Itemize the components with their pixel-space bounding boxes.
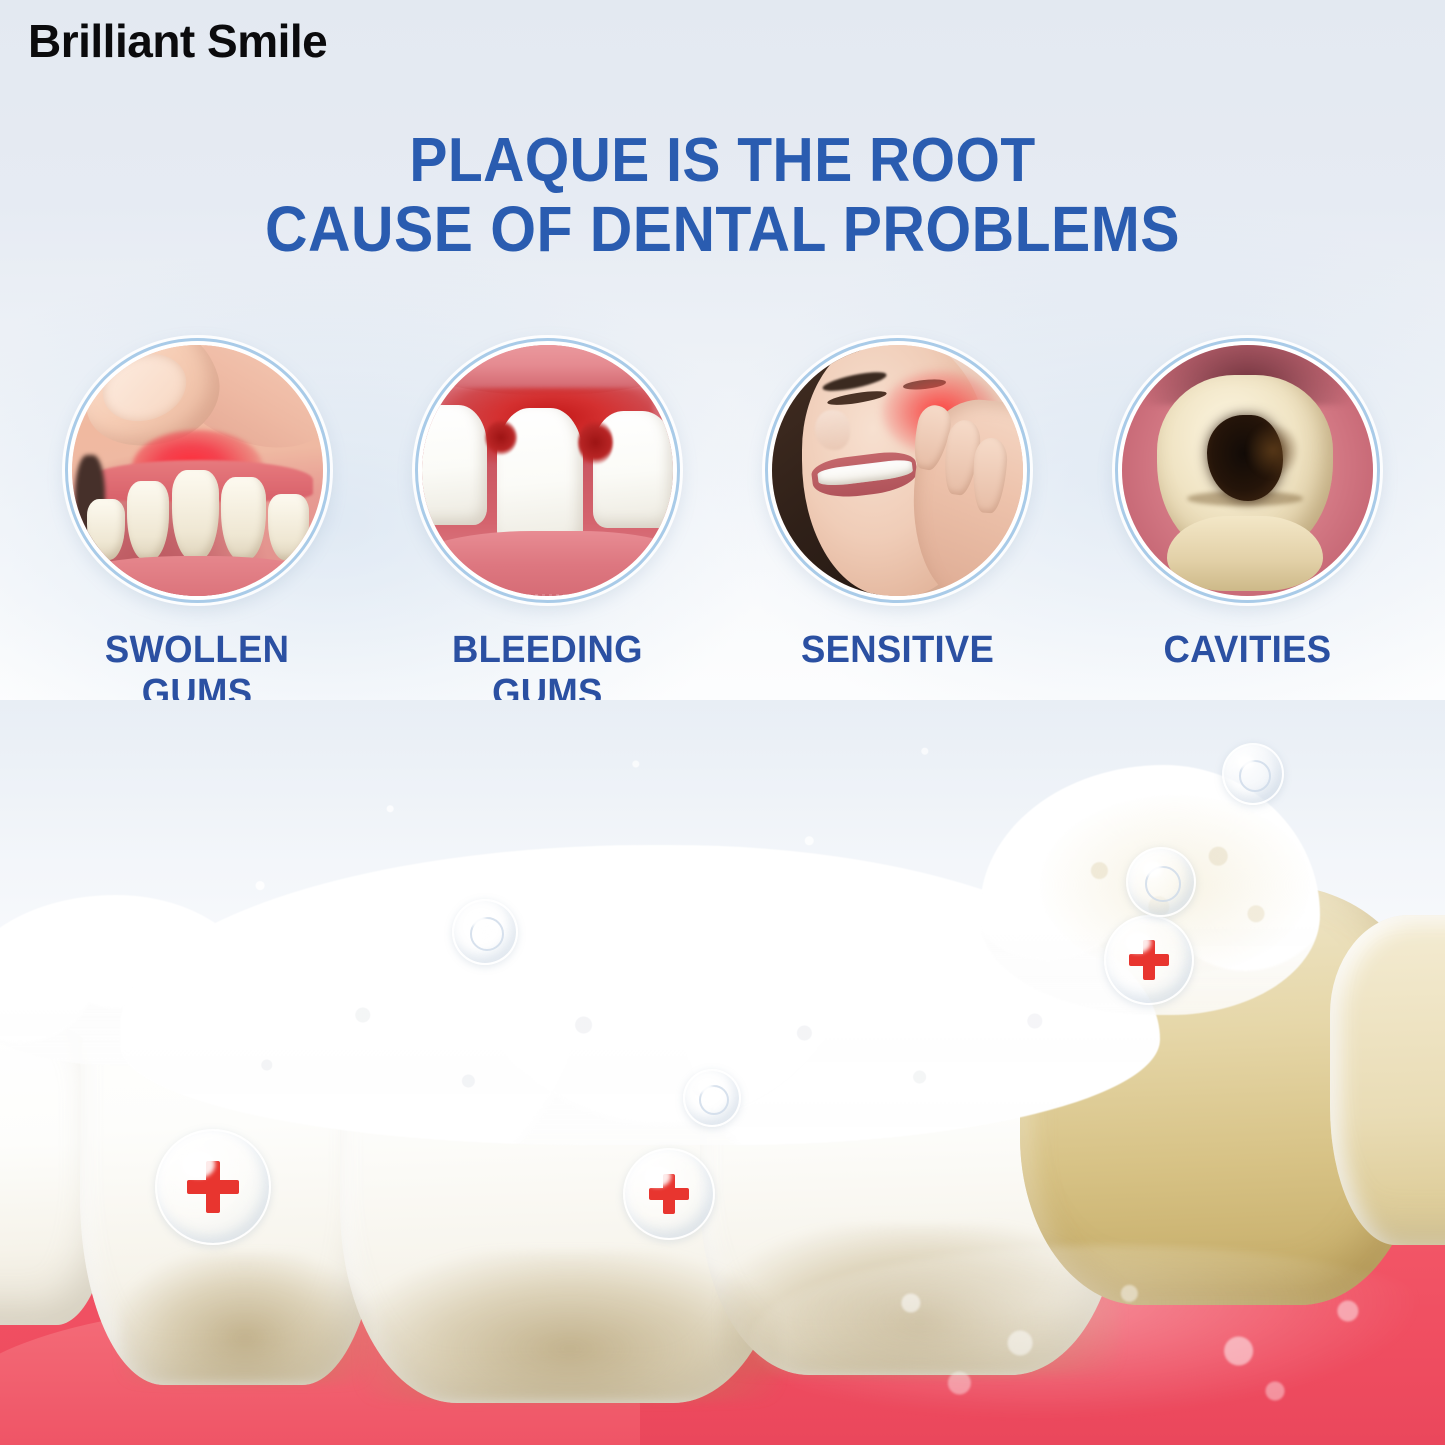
symptom-label-cavities: CAVITIES bbox=[1164, 629, 1332, 672]
water-bubble-icon bbox=[1222, 743, 1284, 805]
medical-cross-icon bbox=[1129, 940, 1169, 980]
cavities-photo bbox=[1115, 338, 1380, 603]
swollen-gums-photo bbox=[65, 338, 330, 603]
water-bubble-icon bbox=[683, 1069, 741, 1127]
headline-line-1: PLAQUE IS THE ROOT bbox=[58, 128, 1387, 195]
symptom-item-cavities: CAVITIES bbox=[1108, 338, 1388, 714]
symptom-label-line-1: CAVITIES bbox=[1164, 629, 1332, 671]
symptom-item-bleeding-gums: BLEEDING GUMS bbox=[408, 338, 688, 714]
symptom-label-sensitive: SENSITIVE bbox=[801, 629, 994, 672]
plaque-stain-center bbox=[360, 1251, 780, 1401]
symptom-label-line-1: BLEEDING bbox=[452, 629, 643, 671]
plaque-stain-left bbox=[120, 1253, 370, 1383]
medical-cross-icon bbox=[187, 1161, 239, 1213]
gum-foam-specks bbox=[838, 1255, 1445, 1415]
page-title: PLAQUE IS THE ROOT CAUSE OF DENTAL PROBL… bbox=[58, 128, 1387, 264]
medical-cross-icon bbox=[649, 1174, 689, 1214]
symptom-list: SWOLLEN GUMS BLEEDING GUMS bbox=[0, 338, 1445, 714]
tooth-far-right bbox=[1330, 915, 1445, 1245]
red-cross-bubble bbox=[1104, 915, 1194, 1005]
water-bubble-icon bbox=[452, 899, 518, 965]
bleeding-gums-photo bbox=[415, 338, 680, 603]
symptom-item-swollen-gums: SWOLLEN GUMS bbox=[58, 338, 338, 714]
symptom-label-line-1: SWOLLEN bbox=[105, 629, 289, 671]
symptom-label-line-1: SENSITIVE bbox=[801, 629, 994, 671]
sensitive-teeth-photo bbox=[765, 338, 1030, 603]
brand-title: Brilliant Smile bbox=[28, 14, 327, 68]
water-bubble-icon bbox=[1126, 847, 1196, 917]
headline-line-2: CAUSE OF DENTAL PROBLEMS bbox=[58, 195, 1387, 264]
red-cross-bubble bbox=[623, 1148, 715, 1240]
hero-teeth-illustration bbox=[0, 700, 1445, 1445]
symptom-item-sensitive: SENSITIVE bbox=[758, 338, 1038, 714]
red-cross-bubble bbox=[155, 1129, 271, 1245]
ad-canvas: Brilliant Smile PLAQUE IS THE ROOT CAUSE… bbox=[0, 0, 1445, 1445]
